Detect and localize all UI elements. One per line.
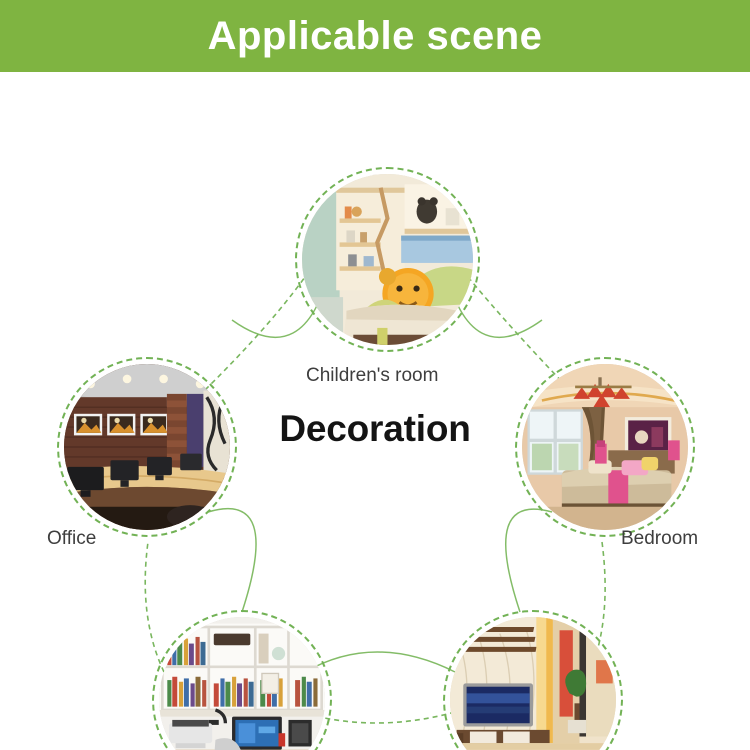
- study-ring: [152, 610, 332, 750]
- children-room-ring: [295, 167, 480, 352]
- page-title: Applicable scene: [208, 16, 543, 56]
- node-label-office: Office: [47, 528, 96, 550]
- node-label-children-room: Children's room: [306, 365, 438, 387]
- node-children-room[interactable]: [295, 167, 480, 352]
- diagram-stage: Decoration: [0, 72, 750, 750]
- node-bedroom[interactable]: [515, 357, 695, 537]
- node-label-bedroom: Bedroom: [621, 528, 698, 550]
- node-living-room[interactable]: [443, 610, 623, 750]
- applicable-scene-page: Applicable scene: [0, 0, 750, 750]
- node-office[interactable]: [57, 357, 237, 537]
- living-room-ring: [443, 610, 623, 750]
- office-ring: [57, 357, 237, 537]
- node-study[interactable]: [152, 610, 332, 750]
- bedroom-ring: [515, 357, 695, 537]
- header-banner: Applicable scene: [0, 0, 750, 72]
